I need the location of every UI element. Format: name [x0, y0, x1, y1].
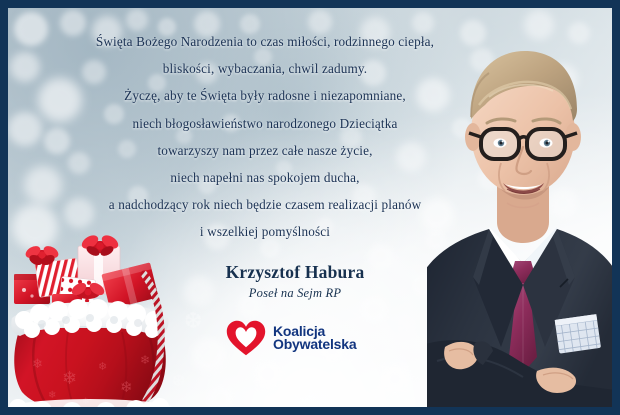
snowflake-icon: ❆	[396, 314, 418, 340]
snowflake-icon: ❆	[322, 382, 337, 400]
svg-text:❄: ❄	[62, 368, 77, 388]
snowflake-icon: ❆	[404, 374, 424, 398]
snowflake-icon: ❆	[184, 310, 202, 332]
svg-text:❄: ❄	[140, 353, 150, 367]
snowflake-icon: ❆	[254, 376, 272, 398]
signature-block: Krzysztof Habura Poseł na Sejm RP	[170, 262, 420, 301]
politician-portrait	[427, 17, 612, 407]
svg-text:❄: ❄	[98, 361, 107, 373]
heart-icon	[226, 320, 266, 356]
signature-role: Poseł na Sejm RP	[170, 286, 420, 301]
logo-text: Koalicja Obywatelska	[273, 325, 356, 352]
signature-name: Krzysztof Habura	[170, 262, 420, 283]
svg-text:❄: ❄	[32, 356, 43, 371]
koalicja-obywatelska-logo: Koalicja Obywatelska	[226, 320, 356, 356]
logo-text-line-2: Obywatelska	[273, 338, 356, 352]
santa-gift-sack: ❄ ❄ ❄ ❄ ❄ ❄ ❄	[2, 232, 182, 413]
svg-text:❄: ❄	[120, 379, 133, 396]
christmas-greeting-card: ❆❆❆❆❆❆❆❆❆❆❆❆❆❆❆❆❆❆❆❆❆❆ Święta Bożego Nar…	[0, 0, 620, 415]
svg-text:❄: ❄	[48, 390, 56, 401]
